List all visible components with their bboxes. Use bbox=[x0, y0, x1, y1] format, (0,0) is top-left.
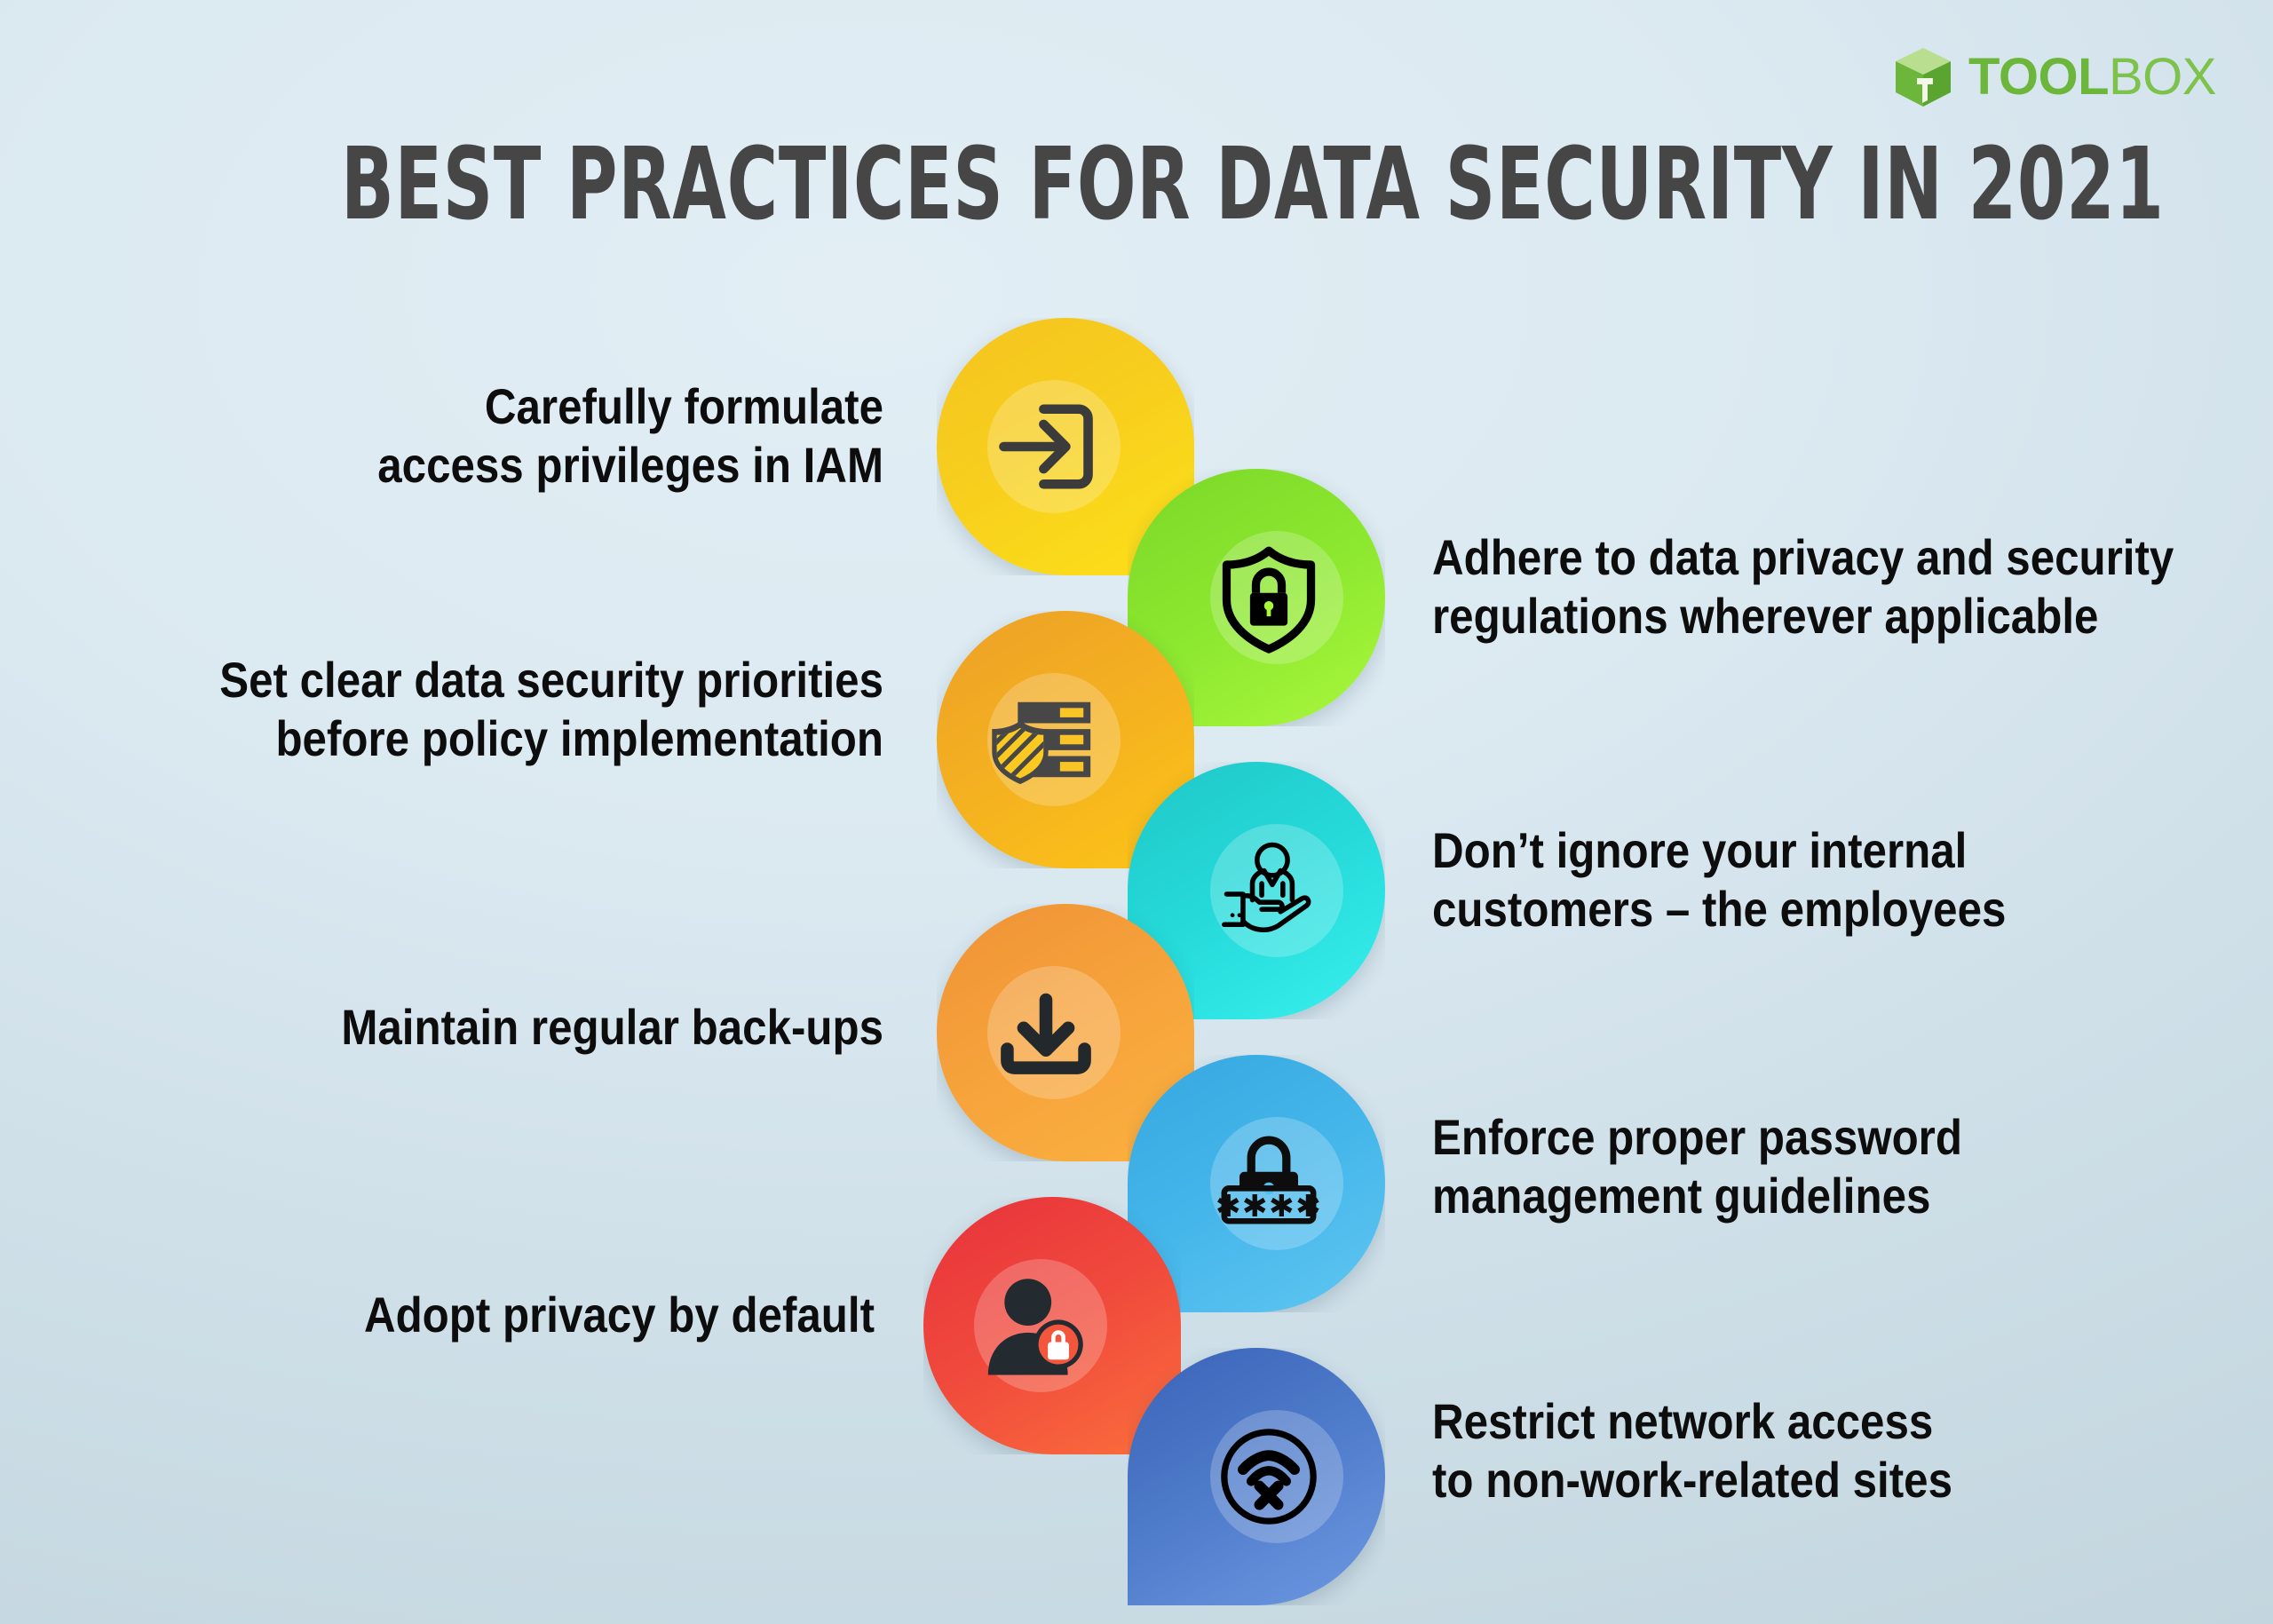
practice-caption-8: Restrict network access to non-work-rela… bbox=[1432, 1392, 2214, 1509]
practice-caption-3: Set clear data security priorities befor… bbox=[133, 651, 883, 768]
password-field-lock-icon: ✱✱✱✱ bbox=[1210, 1125, 1327, 1242]
download-tray-icon bbox=[987, 974, 1105, 1091]
practices-board: Carefully formulate access privileges in… bbox=[0, 0, 2273, 1624]
hand-holding-employee-icon bbox=[1210, 832, 1327, 949]
practice-caption-5: Maintain regular back-ups bbox=[133, 998, 883, 1057]
svg-text:✱✱✱✱: ✱✱✱✱ bbox=[1216, 1189, 1322, 1224]
server-shield-icon bbox=[987, 681, 1105, 798]
login-arrow-icon bbox=[987, 388, 1105, 505]
shield-lock-icon bbox=[1210, 539, 1327, 656]
wifi-off-icon bbox=[1210, 1418, 1327, 1535]
practice-caption-4: Don’t ignore your internal customers – t… bbox=[1432, 821, 2214, 939]
user-lock-icon bbox=[974, 1267, 1091, 1384]
practice-caption-1: Carefully formulate access privileges in… bbox=[180, 377, 883, 495]
practice-caption-7: Adopt privacy by default bbox=[124, 1286, 875, 1344]
practice-pin-8[interactable] bbox=[1128, 1348, 1385, 1605]
practice-caption-2: Adhere to data privacy and security regu… bbox=[1432, 528, 2214, 646]
practice-caption-6: Enforce proper password management guide… bbox=[1432, 1108, 2214, 1225]
